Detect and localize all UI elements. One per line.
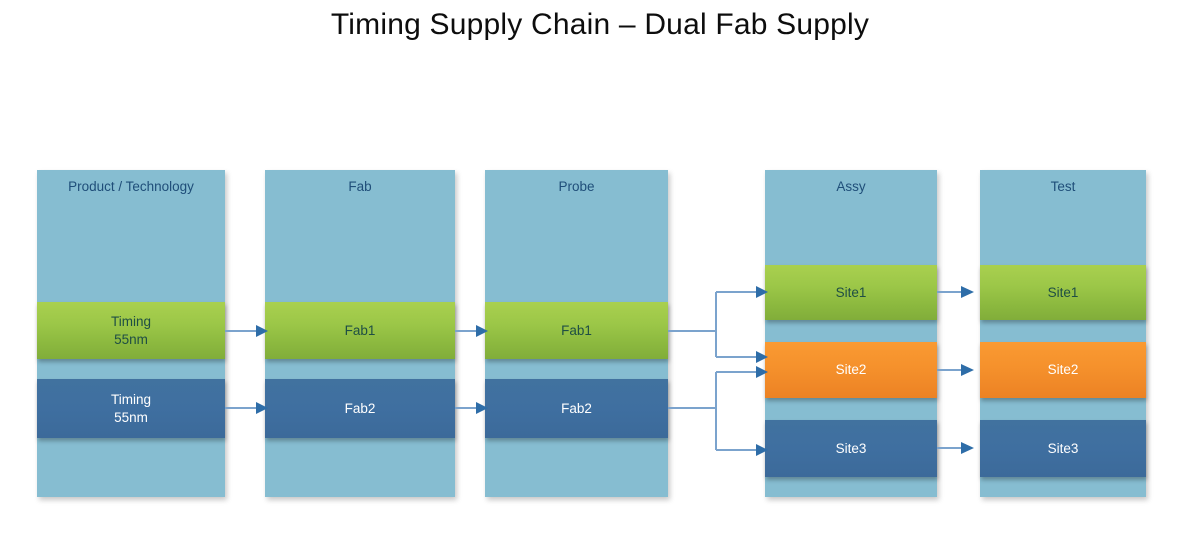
column-header-fab: Fab — [265, 179, 455, 194]
node-product-technology-timing-55nm-blue[interactable]: Timing55nm — [37, 379, 225, 438]
node-fab-fab2[interactable]: Fab2 — [265, 379, 455, 438]
column-header-assy: Assy — [765, 179, 937, 194]
column-product-technology[interactable]: Product / Technology Timing55nm Timing55… — [37, 170, 225, 497]
flow-probe-fab2-branch — [668, 366, 768, 456]
page-title: Timing Supply Chain – Dual Fab Supply — [0, 8, 1200, 42]
node-test-site2[interactable]: Site2 — [980, 342, 1146, 398]
column-test[interactable]: Test Site1 Site2 Site3 — [980, 170, 1146, 497]
node-label: Timing55nm — [111, 313, 151, 348]
flow-probe-fab1-branch — [668, 286, 768, 363]
slide-canvas: Timing Supply Chain – Dual Fab Supply Pr… — [0, 0, 1200, 542]
flow-fab1-to-probe-fab1 — [455, 325, 488, 337]
node-label: Site2 — [836, 361, 867, 378]
node-assy-site3[interactable]: Site3 — [765, 420, 937, 477]
flow-assy-site2-to-test-site2 — [937, 364, 974, 376]
node-label: Site1 — [1048, 284, 1079, 301]
column-header-test: Test — [980, 179, 1146, 194]
flow-assy-site3-to-test-site3 — [937, 442, 974, 454]
node-label: Timing55nm — [111, 391, 151, 426]
node-test-site3[interactable]: Site3 — [980, 420, 1146, 477]
node-label: Fab1 — [561, 322, 592, 339]
node-label: Site3 — [1048, 440, 1079, 457]
column-assy[interactable]: Assy Site1 Site2 Site3 — [765, 170, 937, 497]
node-label: Fab2 — [345, 400, 376, 417]
column-fab[interactable]: Fab Fab1 Fab2 — [265, 170, 455, 497]
flow-assy-site1-to-test-site1 — [937, 286, 974, 298]
node-probe-fab1[interactable]: Fab1 — [485, 302, 668, 359]
node-label: Site2 — [1048, 361, 1079, 378]
node-product-technology-timing-55nm-green[interactable]: Timing55nm — [37, 302, 225, 359]
node-probe-fab2[interactable]: Fab2 — [485, 379, 668, 438]
flow-timing-blue-to-fab2 — [225, 402, 268, 414]
flow-fab2-to-probe-fab2 — [455, 402, 488, 414]
column-header-probe: Probe — [485, 179, 668, 194]
node-test-site1[interactable]: Site1 — [980, 265, 1146, 320]
node-label: Fab1 — [345, 322, 376, 339]
node-label: Site3 — [836, 440, 867, 457]
node-assy-site2[interactable]: Site2 — [765, 342, 937, 398]
node-assy-site1[interactable]: Site1 — [765, 265, 937, 320]
column-header-product-technology: Product / Technology — [37, 179, 225, 194]
flow-timing-green-to-fab1 — [225, 325, 268, 337]
node-fab-fab1[interactable]: Fab1 — [265, 302, 455, 359]
node-label: Fab2 — [561, 400, 592, 417]
node-label: Site1 — [836, 284, 867, 301]
column-probe[interactable]: Probe Fab1 Fab2 — [485, 170, 668, 497]
